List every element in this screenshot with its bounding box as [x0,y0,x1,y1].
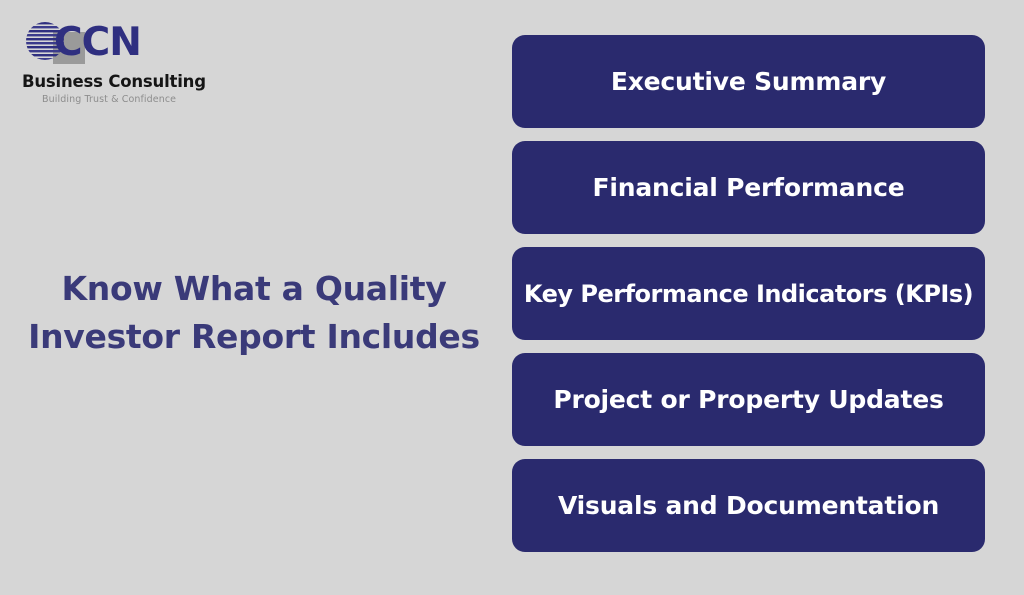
slide-canvas: CCN Business Consulting Building Trust &… [0,0,1024,595]
report-section-list: Executive Summary Financial Performance … [512,35,985,552]
logo-glyphs: CCN [22,18,182,70]
card-label: Executive Summary [611,67,886,97]
card-label: Project or Property Updates [553,385,943,415]
list-item-project-or-property-updates[interactable]: Project or Property Updates [512,353,985,446]
logo-wordmark: CCN [54,23,141,62]
brand-logo: CCN Business Consulting Building Trust &… [22,18,212,105]
card-label: Visuals and Documentation [558,491,939,521]
list-item-financial-performance[interactable]: Financial Performance [512,141,985,234]
logo-company-name: Business Consulting [22,72,212,91]
page-title: Know What a Quality Investor Report Incl… [28,265,480,361]
logo-tagline: Building Trust & Confidence [42,94,212,105]
card-label: Key Performance Indicators (KPIs) [524,279,973,309]
card-label: Financial Performance [593,173,905,203]
list-item-executive-summary[interactable]: Executive Summary [512,35,985,128]
list-item-visuals-and-documentation[interactable]: Visuals and Documentation [512,459,985,552]
logo-mark-row: CCN [22,18,212,70]
list-item-key-performance-indicators[interactable]: Key Performance Indicators (KPIs) [512,247,985,340]
